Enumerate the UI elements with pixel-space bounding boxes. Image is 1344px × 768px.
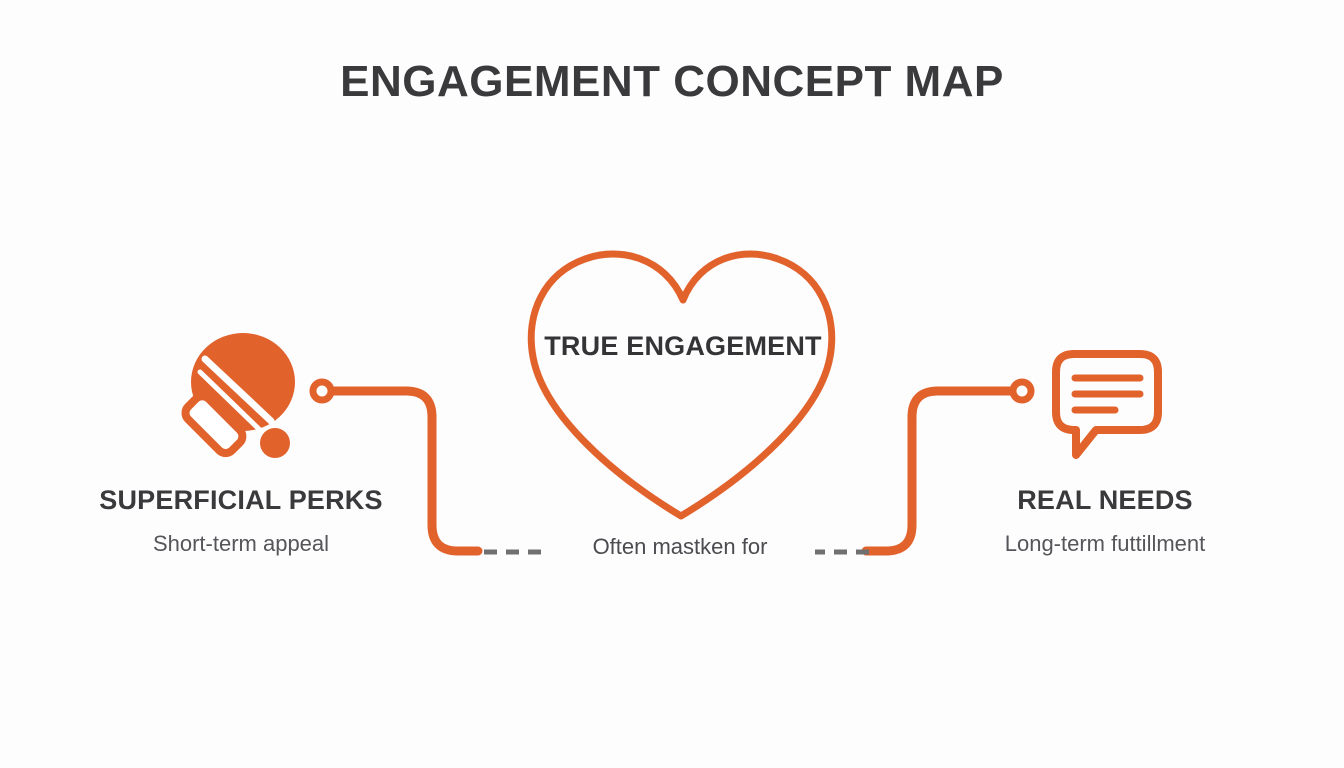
ping-pong-paddle-icon <box>182 333 295 458</box>
left-connector-node <box>313 382 331 400</box>
left-node-title: SUPERFICIAL PERKS <box>36 485 446 516</box>
relation-label: Often mastken for <box>545 534 815 560</box>
right-node-subtitle: Long-term futtillment <box>900 531 1310 557</box>
center-node-label: TRUE ENGAGEMENT <box>533 327 833 365</box>
left-connector <box>313 382 478 551</box>
ping-pong-ball-icon <box>260 428 290 458</box>
right-node-title: REAL NEEDS <box>900 485 1310 516</box>
right-connector-node <box>1013 382 1031 400</box>
right-connector <box>866 382 1031 551</box>
speech-bubble-icon <box>1056 354 1158 455</box>
heart-icon <box>531 254 831 516</box>
page-title: ENGAGEMENT CONCEPT MAP <box>0 57 1344 107</box>
diagram-graphics <box>0 0 1344 768</box>
left-node-subtitle: Short-term appeal <box>36 531 446 557</box>
concept-map-canvas: ENGAGEMENT CONCEPT MAP TRUE ENGAGEMENT S… <box>0 0 1344 768</box>
